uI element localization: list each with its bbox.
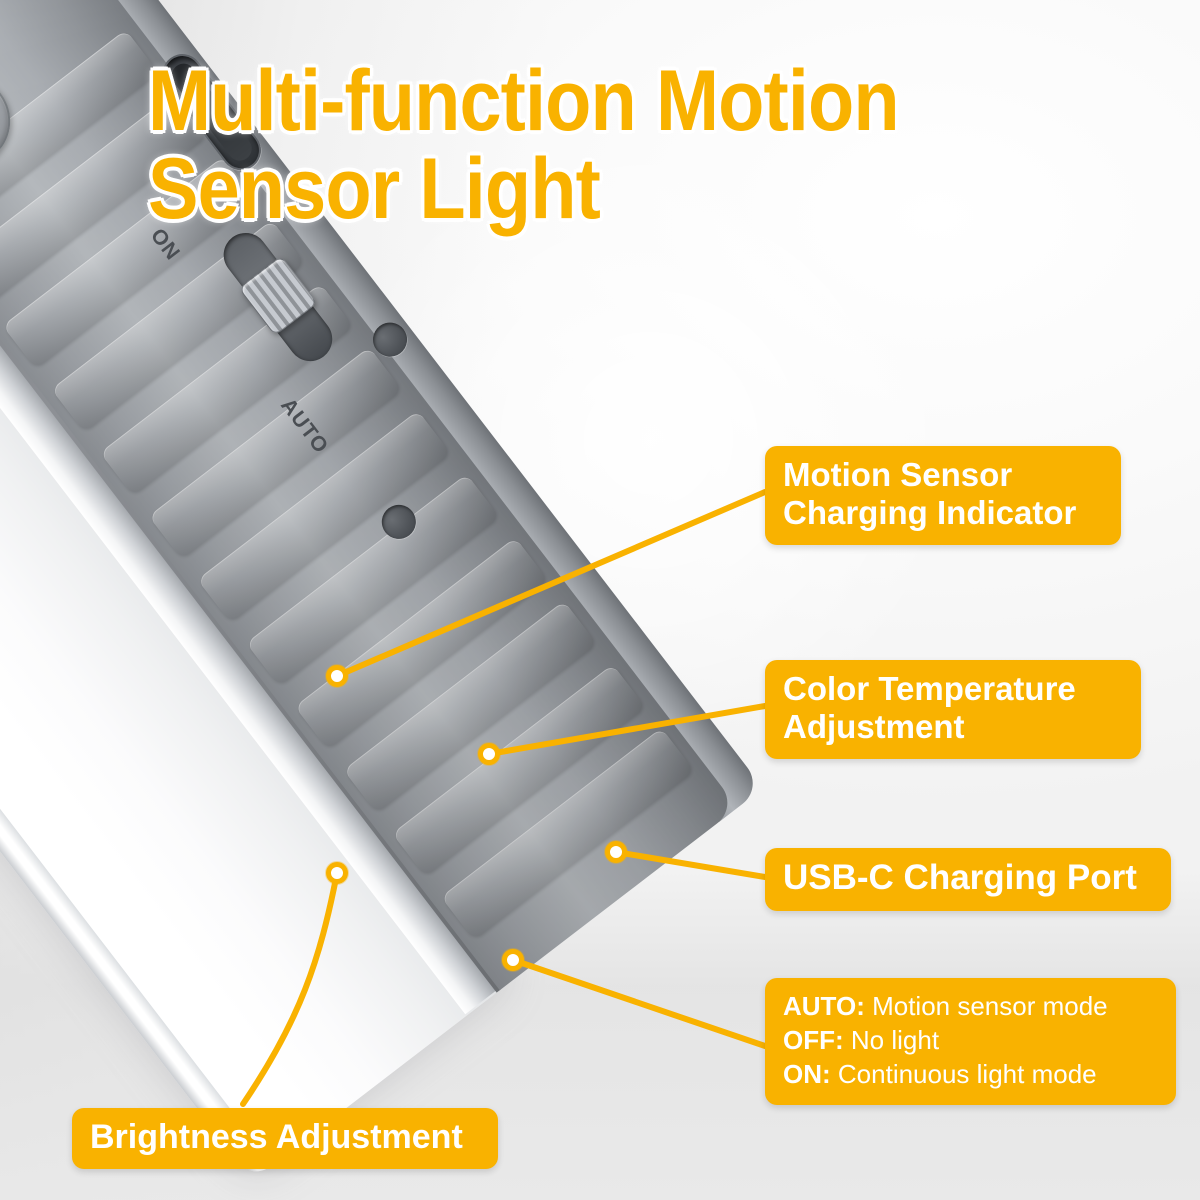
anchor-dot-switch [502, 949, 524, 971]
callout-motion-sensor-line2: Charging Indicator [783, 494, 1103, 532]
anchor-dot-motion-sensor [326, 665, 348, 687]
callout-brightness: Brightness Adjustment [72, 1108, 498, 1169]
mode-label-auto: AUTO: [783, 991, 865, 1021]
page-title: Multi-function Motion Sensor Light [148, 58, 1010, 233]
page-title-line2: Sensor Light [148, 146, 1010, 234]
callout-color-temperature-line2: Adjustment [783, 708, 1123, 746]
mode-desc-auto: Motion sensor mode [865, 991, 1108, 1021]
callout-usb-c-line1: USB-C Charging Port [783, 858, 1153, 899]
mode-row-off: OFF: No light [783, 1024, 1158, 1058]
callout-color-temperature: Color Temperature Adjustment [765, 660, 1141, 759]
callout-usb-c: USB-C Charging Port [765, 848, 1171, 911]
mode-label-on: ON: [783, 1059, 831, 1089]
infographic-canvas: AUTO ON Motion Sensor Charging Indicator… [0, 0, 1200, 1200]
mode-label-off: OFF: [783, 1025, 844, 1055]
mode-desc-on: Continuous light mode [831, 1059, 1097, 1089]
callout-motion-sensor: Motion Sensor Charging Indicator [765, 446, 1121, 545]
page-title-line1: Multi-function Motion [148, 58, 1010, 146]
callout-motion-sensor-line1: Motion Sensor [783, 456, 1103, 494]
anchor-dot-usb-c [605, 841, 627, 863]
mode-row-auto: AUTO: Motion sensor mode [783, 990, 1158, 1024]
callout-color-temperature-line1: Color Temperature [783, 670, 1123, 708]
callout-mode-legend: AUTO: Motion sensor mode OFF: No light O… [765, 978, 1176, 1105]
callout-brightness-line1: Brightness Adjustment [90, 1118, 480, 1157]
mode-desc-off: No light [844, 1025, 939, 1055]
anchor-dot-brightness [326, 862, 348, 884]
anchor-dot-color-temperature [478, 743, 500, 765]
mode-row-on: ON: Continuous light mode [783, 1058, 1158, 1092]
